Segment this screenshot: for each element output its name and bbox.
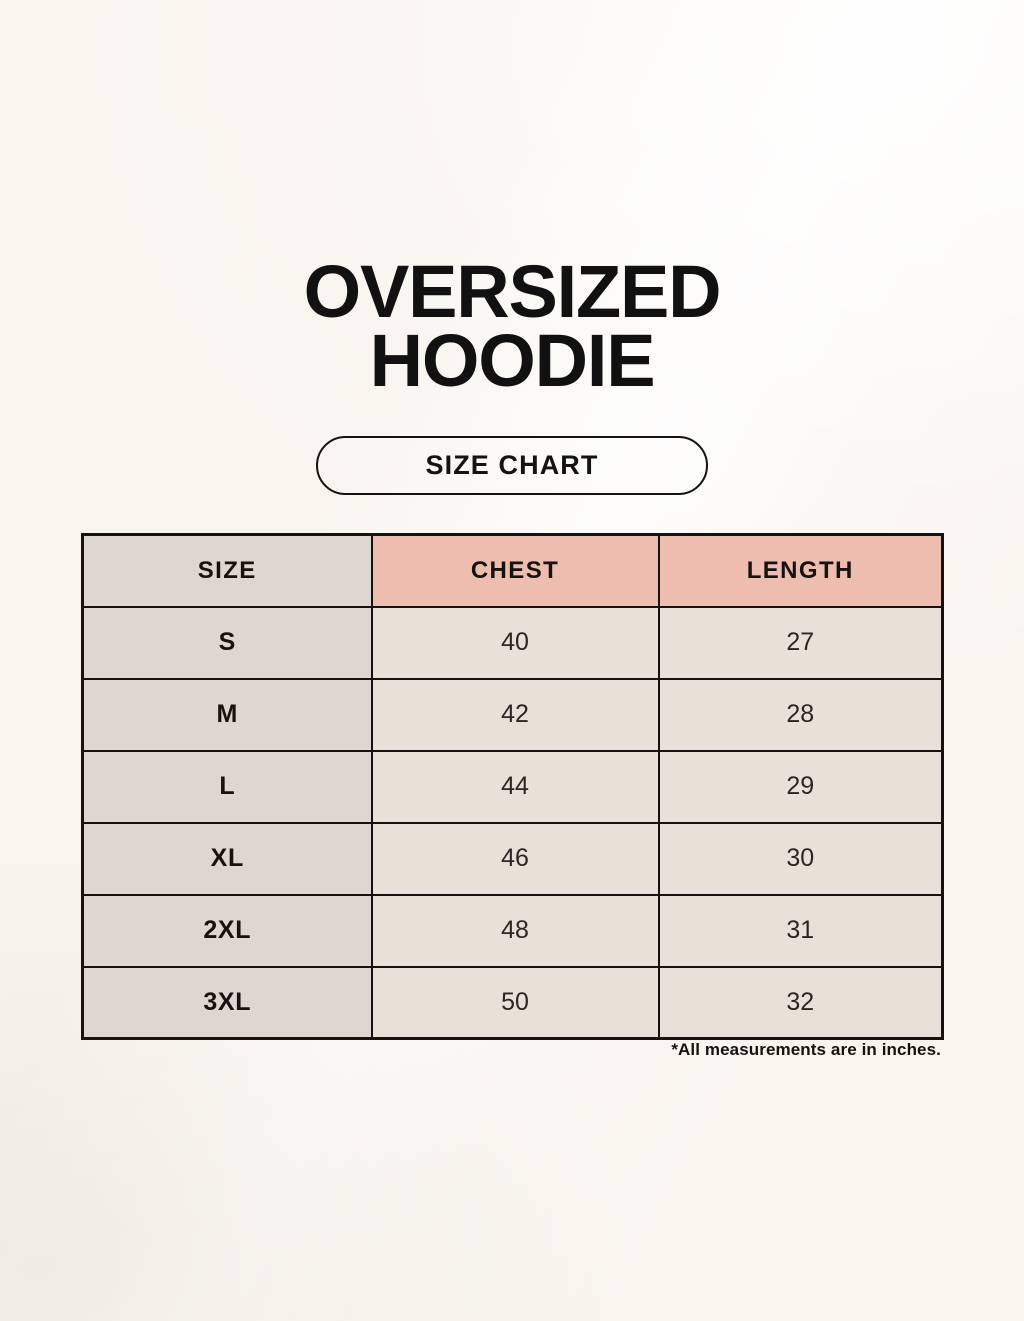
table-row: S 40 27 <box>83 607 943 679</box>
table-header: SIZE CHEST LENGTH <box>83 535 943 607</box>
cell-length: 30 <box>659 823 943 895</box>
size-chart-badge: SIZE CHART <box>316 436 708 495</box>
cell-chest: 40 <box>372 607 659 679</box>
table-row: L 44 29 <box>83 751 943 823</box>
measurement-unit-note: *All measurements are in inches. <box>81 1040 941 1060</box>
column-header-size: SIZE <box>83 535 372 607</box>
cell-length: 32 <box>659 967 943 1039</box>
table-row: 2XL 48 31 <box>83 895 943 967</box>
cell-size: XL <box>83 823 372 895</box>
cell-size: 2XL <box>83 895 372 967</box>
size-chart-table: SIZE CHEST LENGTH S 40 27 M 42 28 L <box>81 533 944 1040</box>
table-row: 3XL 50 32 <box>83 967 943 1039</box>
cell-size: M <box>83 679 372 751</box>
size-chart-badge-label: SIZE CHART <box>426 450 599 481</box>
cell-chest: 42 <box>372 679 659 751</box>
table-row: M 42 28 <box>83 679 943 751</box>
table-header-row: SIZE CHEST LENGTH <box>83 535 943 607</box>
column-header-length: LENGTH <box>659 535 943 607</box>
size-chart-page: OVERSIZED HOODIE SIZE CHART SIZE CHEST L… <box>0 0 1024 1321</box>
cell-chest: 44 <box>372 751 659 823</box>
cell-chest: 50 <box>372 967 659 1039</box>
cell-size: L <box>83 751 372 823</box>
cell-length: 31 <box>659 895 943 967</box>
page-title-line-1: OVERSIZED <box>0 258 1024 327</box>
column-header-chest: CHEST <box>372 535 659 607</box>
cell-length: 29 <box>659 751 943 823</box>
cell-size: 3XL <box>83 967 372 1039</box>
size-chart-badge-wrapper: SIZE CHART <box>0 436 1024 495</box>
page-title: OVERSIZED HOODIE <box>0 258 1024 396</box>
table-body: S 40 27 M 42 28 L 44 29 XL 46 30 <box>83 607 943 1039</box>
cell-length: 27 <box>659 607 943 679</box>
cell-length: 28 <box>659 679 943 751</box>
size-chart-table-block: SIZE CHEST LENGTH S 40 27 M 42 28 L <box>81 533 941 1040</box>
page-title-line-2: HOODIE <box>0 327 1024 396</box>
cell-chest: 46 <box>372 823 659 895</box>
table-row: XL 46 30 <box>83 823 943 895</box>
cell-size: S <box>83 607 372 679</box>
cell-chest: 48 <box>372 895 659 967</box>
